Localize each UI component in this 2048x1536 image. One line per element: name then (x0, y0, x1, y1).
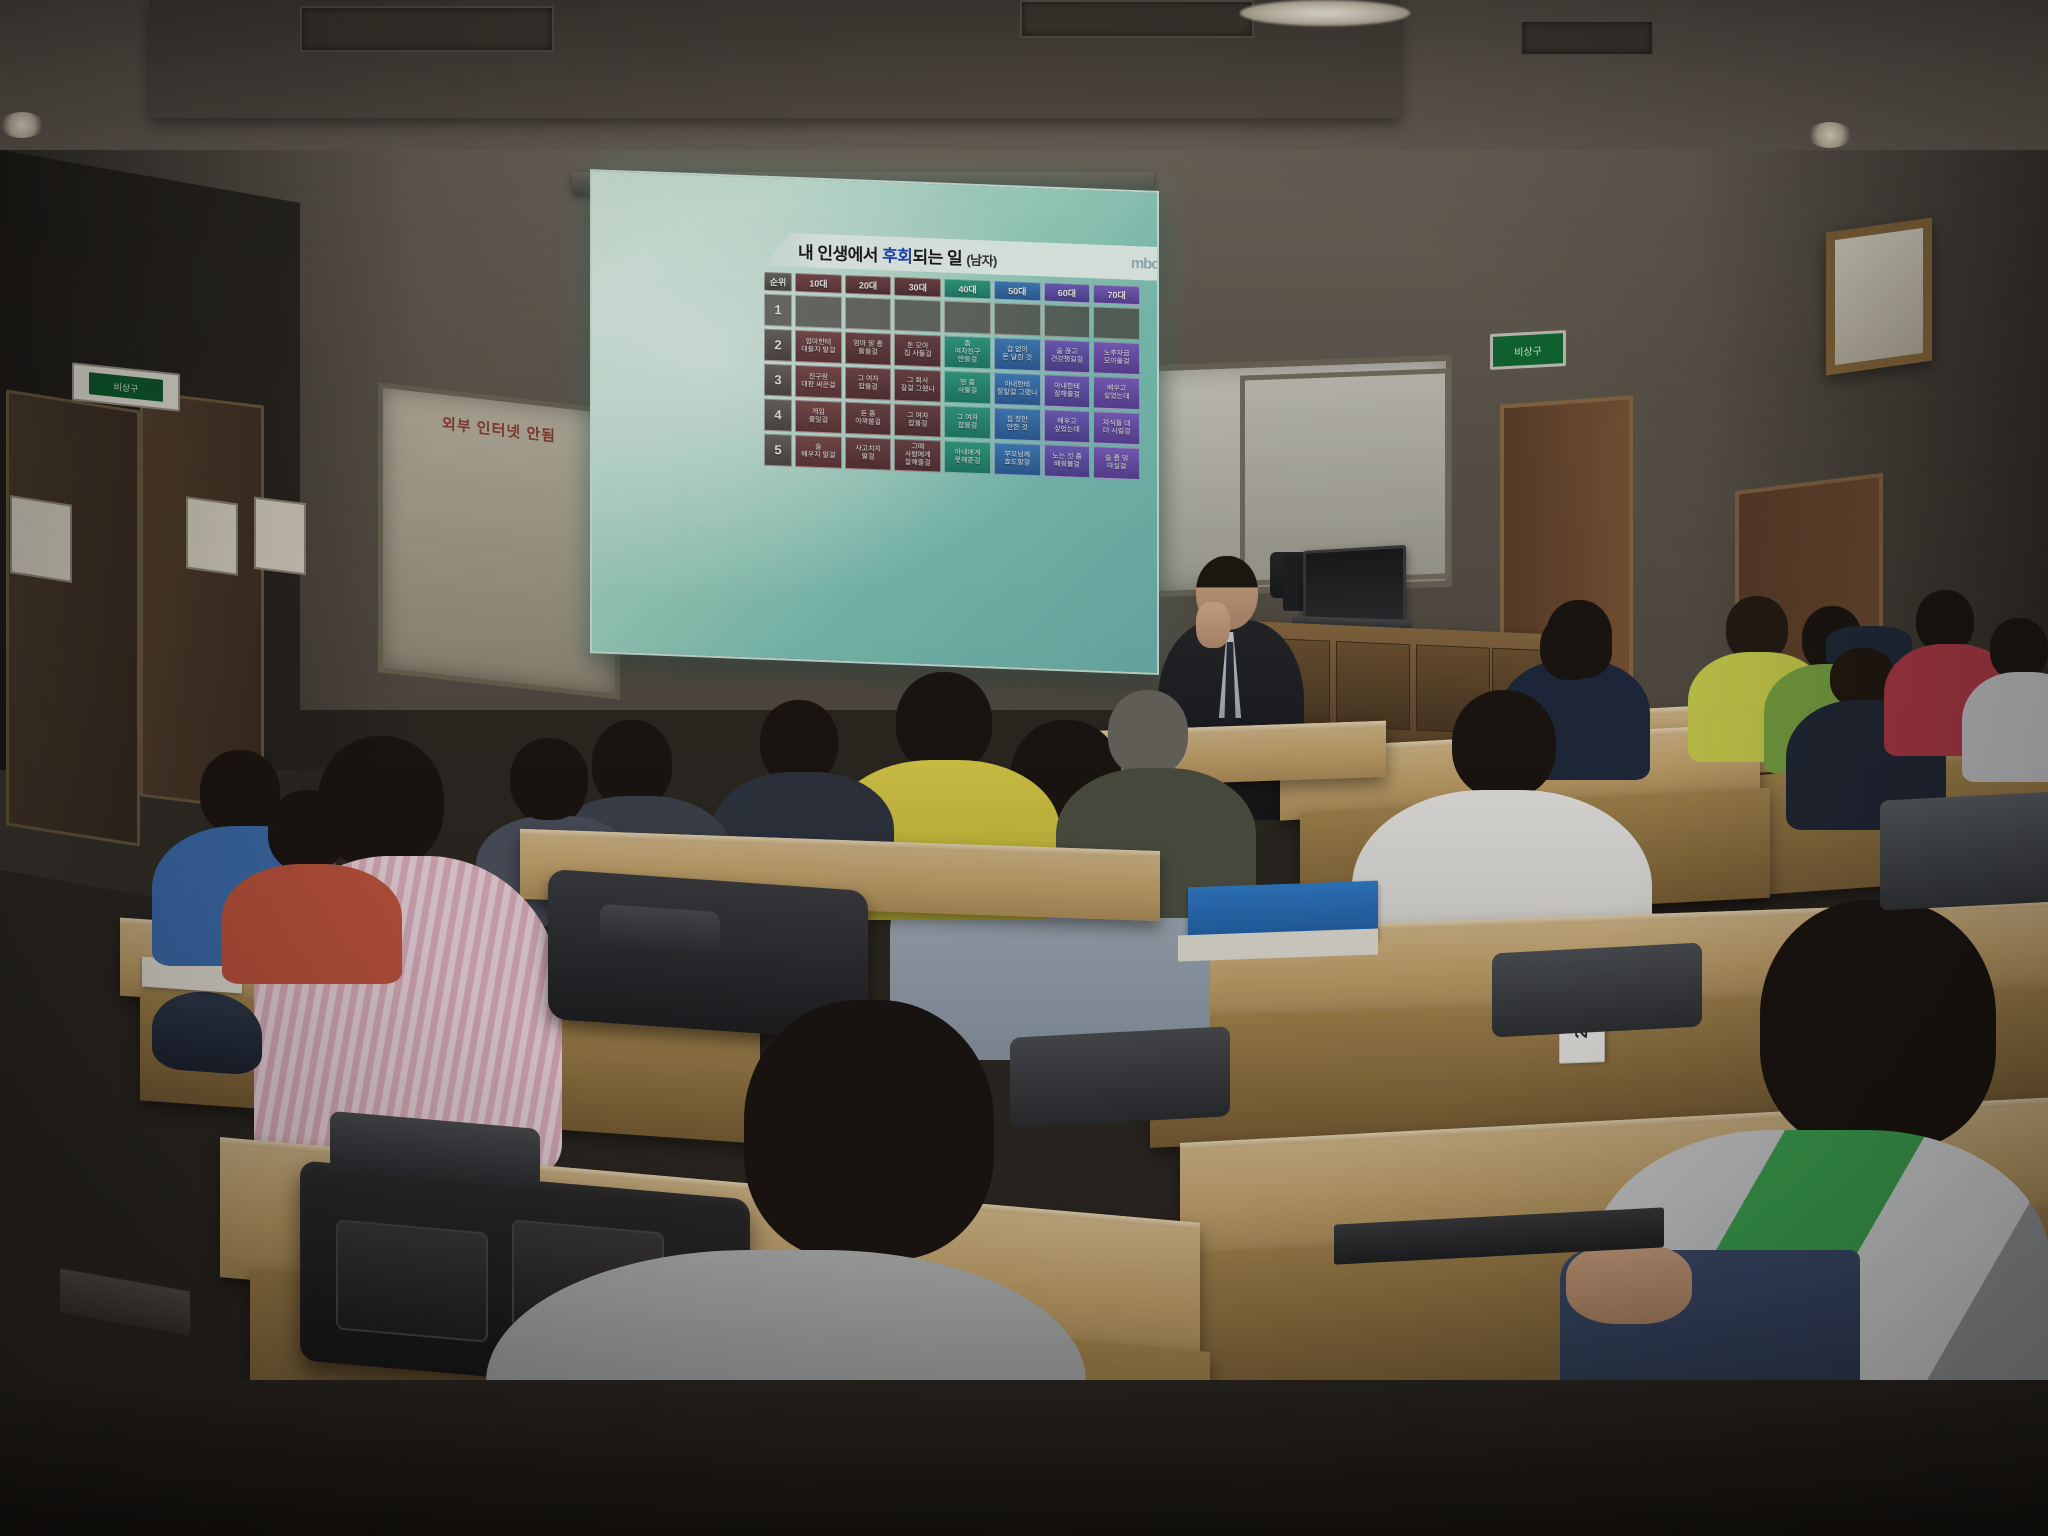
slide-table-cell: 그 여자잡을걸 (944, 406, 991, 440)
slide-table-cell: 집 장만안한 것 (994, 408, 1041, 442)
slide-table-header-cell: 순위 (764, 272, 792, 292)
slide-table-header-cell: 30대 (894, 277, 941, 298)
slide-table-cell: 노는 것 좀배워볼걸 (1044, 444, 1091, 478)
slide-table-cell: 술 끊고건강챙길걸 (1044, 339, 1091, 373)
slide-table-cell: 돈 모아집 사둘걸 (894, 334, 941, 368)
slide-table-header-cell: 40대 (944, 279, 991, 300)
bag-strap (600, 904, 720, 956)
slide-table-cell: 노후자금모아둘걸 (1093, 341, 1140, 375)
slide-table-cell: 좀여자친구만들걸 (944, 336, 991, 370)
chair (1492, 942, 1702, 1037)
slide-table-cell: 배우고싶었는데 (1044, 409, 1091, 443)
slide-title: 내 인생에서 후회되는 일 (남자) (798, 238, 997, 271)
slide-table-header-cell: 10대 (795, 273, 842, 294)
slide-table-header-cell: 50대 (994, 281, 1041, 302)
slide-table-cell: 돈 좀아껴쓸걸 (845, 402, 892, 436)
chair (1010, 1026, 1230, 1128)
slide-table-cell: 그 회사갈걸 그랬나 (894, 369, 941, 403)
mbc-logo-text: mbc (1131, 254, 1159, 272)
slide-table-cell: 부모님께효도할걸 (994, 443, 1041, 477)
slide-table-cell: 엄마 말 좀들을걸 (845, 332, 892, 366)
slide-table-cell: 땅 좀사둘걸 (944, 371, 991, 405)
slide-table-cell: 엄마한테대들지 말걸 (795, 330, 842, 364)
slide-table-rank-cell: 4 (764, 399, 792, 432)
slide-table: 순위10대20대30대40대50대60대70대12엄마한테대들지 말걸엄마 말 … (764, 272, 1140, 483)
slide-table-rank-cell: 3 (764, 364, 792, 397)
wall-picture-canvas (1835, 228, 1923, 365)
ceiling-downlight (0, 112, 44, 138)
door-left-outer[interactable] (6, 389, 140, 846)
projected-slide: 내 인생에서 후회되는 일 (남자) mbcHD 순위10대20대30대40대5… (636, 211, 1146, 641)
student-hand (1566, 1244, 1692, 1324)
slide-table-cell (845, 297, 892, 331)
laptop-screen (1303, 545, 1406, 627)
presenter-hand (1196, 602, 1230, 648)
lecture-hall-photo: 비상구 외부 인터넷 안됨 비상구 내 인생에서 후회되는 일 (남자) mbc… (0, 0, 2048, 1536)
slide-table-cell: 그때사람에게잘해줄걸 (894, 439, 941, 473)
slide-title-highlight: 후회 (882, 246, 912, 266)
slide-table-rank-cell: 1 (764, 294, 792, 327)
slide-table-cell (944, 301, 991, 335)
slide-table-cell (994, 303, 1041, 337)
leather-bag-pocket (336, 1219, 488, 1342)
mbc-logo: mbcHD (1131, 254, 1159, 273)
notice-board: 외부 인터넷 안됨 (378, 382, 620, 700)
slide-table-cell (894, 299, 941, 333)
exit-sign-right: 비상구 (1490, 330, 1566, 370)
slide-table-cell: 친구랑대판 싸운걸 (795, 365, 842, 399)
slide-table-cell: 아내에게못해준걸 (944, 441, 991, 475)
wall-picture-frame (1826, 218, 1932, 376)
slide-table-cell: 술 좀 덜마실걸 (1093, 446, 1140, 480)
slide-table-cell (795, 295, 842, 329)
wall-poster (254, 497, 306, 575)
slide-title-suffix: 되는 일 (912, 247, 966, 268)
slide-table-cell: 겁 없이돈 날린 것 (994, 338, 1041, 372)
slide-table-cell: 그 여자잡을걸 (845, 367, 892, 401)
slide-table-cell: 그 여자잡을걸 (894, 404, 941, 438)
exit-sign-right-label: 비상구 (1514, 342, 1542, 358)
wall-poster (186, 496, 238, 575)
slide-table-rank-cell: 5 (764, 434, 792, 467)
ceiling-vent-icon (1020, 0, 1254, 38)
floor-vent-icon (60, 1269, 190, 1336)
slide-table-header-cell: 70대 (1093, 284, 1140, 305)
ceiling-vent-icon (1520, 20, 1654, 56)
ceiling-light (1240, 0, 1410, 26)
floor (0, 1380, 2048, 1536)
slide-table-cell: 자식들 대더 시킬걸 (1093, 411, 1140, 445)
chair (1880, 791, 2048, 910)
wall-poster (10, 495, 72, 583)
projector-screen: 내 인생에서 후회되는 일 (남자) mbcHD 순위10대20대30대40대5… (590, 169, 1159, 675)
slide-table-cell: 게임줄일걸 (795, 400, 842, 434)
slide-table-cell (1093, 306, 1140, 340)
slide-table-header-cell: 20대 (845, 275, 892, 296)
slide-title-prefix: 내 인생에서 (798, 243, 882, 265)
ceiling-downlight (1808, 122, 1852, 148)
slide-table-cell: 술배우지 말걸 (795, 435, 842, 469)
notice-board-text: 외부 인터넷 안됨 (393, 407, 605, 452)
slide-table-cell: 사고치지말걸 (845, 437, 892, 471)
slide-table-rank-cell: 2 (764, 329, 792, 362)
slide-table-cell: 아내한테잘해줄걸 (1044, 374, 1091, 408)
lectern-panel (1336, 641, 1410, 730)
door-left-inner[interactable] (140, 390, 264, 811)
ceiling-vent-icon (300, 6, 554, 52)
slide-table-header-cell: 60대 (1044, 282, 1091, 303)
exit-sign-left-label: 비상구 (89, 372, 163, 402)
slide-table-cell (1044, 304, 1091, 338)
slide-table-cell: 아내한테잘할걸 그랬나 (994, 373, 1041, 407)
slide-title-note: (남자) (966, 252, 997, 268)
slide-table-cell: 배우고싶었는데 (1093, 376, 1140, 410)
